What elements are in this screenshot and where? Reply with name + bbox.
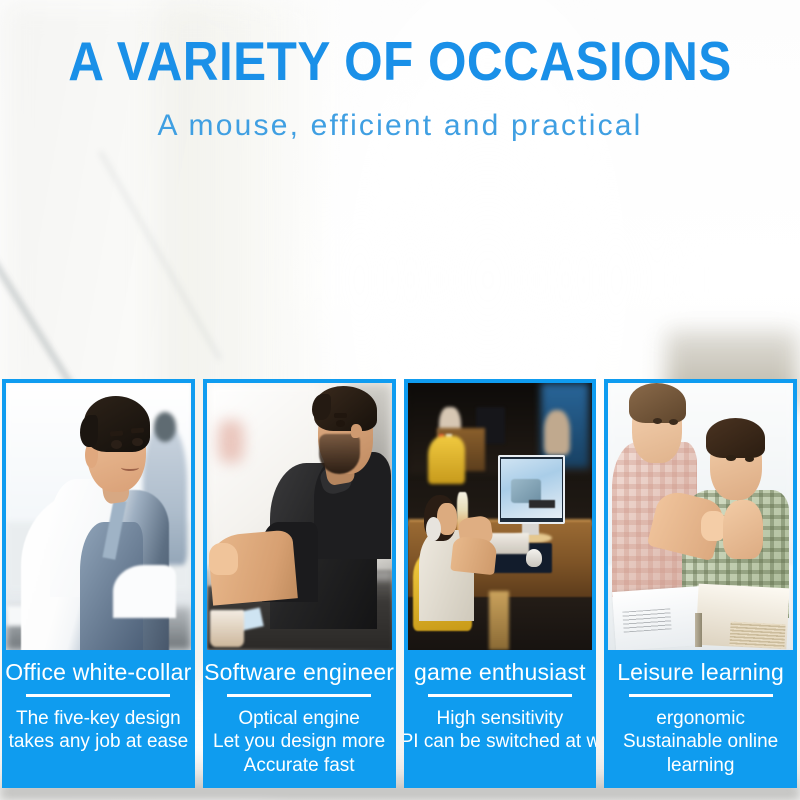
card-description: The five-key design takes any job at eas… xyxy=(9,707,189,754)
description-line: takes any job at ease xyxy=(9,730,189,754)
caption-panel: Leisure learning ergonomic Sustainable o… xyxy=(604,654,797,788)
photo-book-page-edges xyxy=(730,622,787,649)
caption-divider xyxy=(629,694,773,697)
description-line: Let you design more xyxy=(213,730,385,754)
occasion-card-leisure-learning[interactable]: Leisure learning ergonomic Sustainable o… xyxy=(604,379,797,788)
description-line: Optical engine xyxy=(213,707,385,731)
description-line: The five-key design xyxy=(9,707,189,731)
photo-man-hair-tuft xyxy=(312,394,330,421)
photo-book-spine xyxy=(695,613,702,648)
card-heading: Leisure learning xyxy=(617,660,784,686)
photo-man-eye xyxy=(336,420,345,426)
photo-man-eyebrow xyxy=(334,413,347,417)
page-title: A VARIETY OF OCCASIONS xyxy=(40,34,760,89)
occasion-card-row: Office white-collar The five-key design … xyxy=(2,379,797,788)
header: A VARIETY OF OCCASIONS A mouse, efficien… xyxy=(0,0,800,141)
caption-divider xyxy=(227,694,371,697)
card-description: Optical engine Let you design more Accur… xyxy=(213,707,385,778)
photo-man-hair-side xyxy=(80,415,98,447)
photo-student-two-eye-left xyxy=(726,455,735,461)
photo-desk-pillar xyxy=(489,591,509,650)
software-engineer-photo xyxy=(207,383,392,650)
photo-frame xyxy=(404,379,597,654)
photo-background-person-secondary xyxy=(544,410,570,455)
description-line: Accurate fast xyxy=(213,754,385,778)
photo-man-nose xyxy=(351,424,362,437)
occasion-card-software-engineer[interactable]: Software engineer Optical engine Let you… xyxy=(203,379,396,788)
photo-man-eyebrow-left xyxy=(110,431,123,437)
photo-screen-toolbar xyxy=(529,500,555,508)
card-description: ergonomic Sustainable online learning xyxy=(623,707,778,778)
photo-gamer-headphones xyxy=(426,517,441,541)
caption-panel: Office white-collar The five-key design … xyxy=(2,654,195,788)
photo-student-one-eye-left xyxy=(653,418,662,424)
photo-background-blur-spot xyxy=(218,420,244,463)
photo-colleague-head xyxy=(154,412,176,441)
photo-book-text-lines xyxy=(622,608,671,633)
game-enthusiast-photo xyxy=(408,383,593,650)
page-subtitle: A mouse, efficient and practical xyxy=(0,111,800,141)
card-description: High sensitivity DPI can be switched at … xyxy=(404,707,597,754)
photo-frame xyxy=(2,379,195,654)
card-heading: game enthusiast xyxy=(414,660,586,686)
caption-divider xyxy=(26,694,170,697)
photo-background-chair xyxy=(428,436,465,484)
office-white-collar-photo xyxy=(6,383,191,650)
leisure-learning-photo xyxy=(608,383,793,650)
caption-divider xyxy=(428,694,572,697)
photo-student-two-hair xyxy=(706,418,765,458)
photo-man-arm xyxy=(113,565,176,618)
card-heading: Office white-collar xyxy=(5,660,191,686)
photo-frame xyxy=(604,379,797,654)
description-line: DPI can be switched at will xyxy=(404,730,597,754)
description-line: High sensitivity xyxy=(404,707,597,731)
photo-man-hand xyxy=(209,543,239,575)
photo-coffee-cup xyxy=(210,610,243,647)
photo-student-two-clasped-hands xyxy=(723,500,764,559)
description-line: learning xyxy=(623,754,778,778)
photo-man-eye-right xyxy=(132,438,143,447)
photo-mouse xyxy=(526,549,543,568)
caption-panel: game enthusiast High sensitivity DPI can… xyxy=(404,654,597,788)
occasion-card-game-enthusiast[interactable]: game enthusiast High sensitivity DPI can… xyxy=(404,379,597,788)
card-heading: Software engineer xyxy=(204,660,394,686)
occasion-card-office-white-collar[interactable]: Office white-collar The five-key design … xyxy=(2,379,195,788)
description-line: Sustainable online xyxy=(623,730,778,754)
photo-frame xyxy=(203,379,396,654)
caption-panel: Software engineer Optical engine Let you… xyxy=(203,654,396,788)
photo-man-beard xyxy=(319,434,360,474)
description-line: ergonomic xyxy=(623,707,778,731)
